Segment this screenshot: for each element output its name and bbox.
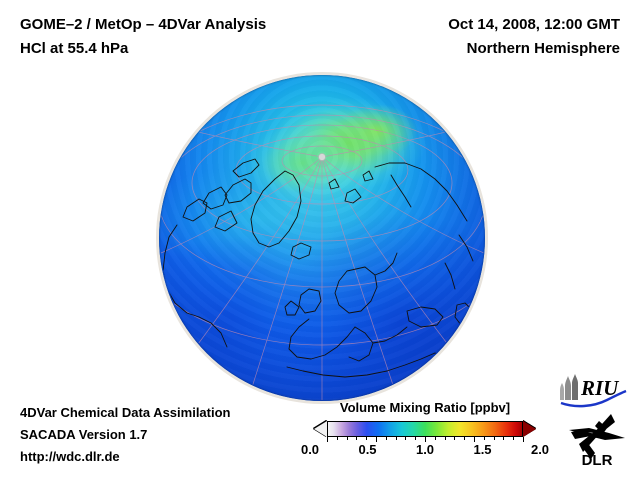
colorbar-tick-minor bbox=[513, 437, 514, 440]
colorbar-tick-label: 1.5 bbox=[473, 442, 491, 457]
colorbar-tick-minor bbox=[337, 437, 338, 440]
header-meta-block: Oct 14, 2008, 12:00 GMT Northern Hemisph… bbox=[448, 13, 620, 61]
globe-rim bbox=[159, 75, 485, 401]
colorbar-tick-minor bbox=[484, 437, 485, 440]
footer-line-version: SACADA Version 1.7 bbox=[20, 424, 231, 446]
colorbar-title: Volume Mixing Ratio [ppbv] bbox=[310, 400, 540, 415]
colorbar-tick-labels: 0.00.51.01.52.0 bbox=[310, 442, 540, 459]
header-title-line1: GOME–2 / MetOp – 4DVar Analysis bbox=[20, 13, 266, 37]
colorbar-extend-high-arrow bbox=[523, 421, 536, 437]
dlr-logo-text: DLR bbox=[582, 452, 613, 468]
footer-text-block: 4DVar Chemical Data Assimilation SACADA … bbox=[20, 402, 231, 468]
riu-tower-icon bbox=[560, 374, 578, 400]
footer-line-assimilation: 4DVar Chemical Data Assimilation bbox=[20, 402, 231, 424]
colorbar-tick-label: 0.0 bbox=[301, 442, 319, 457]
colorbar-tick-minor bbox=[435, 437, 436, 440]
colorbar-tick-minor bbox=[454, 437, 455, 440]
colorbar-row bbox=[310, 420, 540, 439]
colorbar-tick-label: 1.0 bbox=[416, 442, 434, 457]
globe-map bbox=[159, 75, 485, 401]
colorbar-tick-minor bbox=[464, 437, 465, 440]
visualization-page: GOME–2 / MetOp – 4DVar Analysis HCl at 5… bbox=[0, 0, 640, 480]
colorbar-tick-label: 0.5 bbox=[358, 442, 376, 457]
colorbar-tick-minor bbox=[347, 437, 348, 440]
colorbar-tick-minor bbox=[445, 437, 446, 440]
colorbar-gradient bbox=[327, 421, 523, 437]
colorbar: Volume Mixing Ratio [ppbv] 0.00.51.01.52… bbox=[310, 400, 540, 459]
header-title-line2: HCl at 55.4 hPa bbox=[20, 37, 266, 61]
header-title-block: GOME–2 / MetOp – 4DVar Analysis HCl at 5… bbox=[20, 13, 266, 61]
dlr-logo: DLR bbox=[565, 412, 629, 468]
colorbar-tick-label: 2.0 bbox=[531, 442, 549, 457]
header-date: Oct 14, 2008, 12:00 GMT bbox=[448, 13, 620, 37]
colorbar-tick-minor bbox=[366, 437, 367, 440]
colorbar-tick-minor bbox=[386, 437, 387, 440]
colorbar-tick-minor bbox=[494, 437, 495, 440]
colorbar-extend-low-arrow bbox=[314, 421, 327, 437]
colorbar-tick-minor bbox=[405, 437, 406, 440]
riu-logo: RIU bbox=[559, 374, 627, 408]
footer-line-url: http://wdc.dlr.de bbox=[20, 446, 231, 468]
colorbar-tick-minor bbox=[396, 437, 397, 440]
colorbar-tick-minor bbox=[415, 437, 416, 440]
colorbar-tick-minor bbox=[503, 437, 504, 440]
colorbar-tick-minor bbox=[356, 437, 357, 440]
header-region: Northern Hemisphere bbox=[448, 37, 620, 61]
